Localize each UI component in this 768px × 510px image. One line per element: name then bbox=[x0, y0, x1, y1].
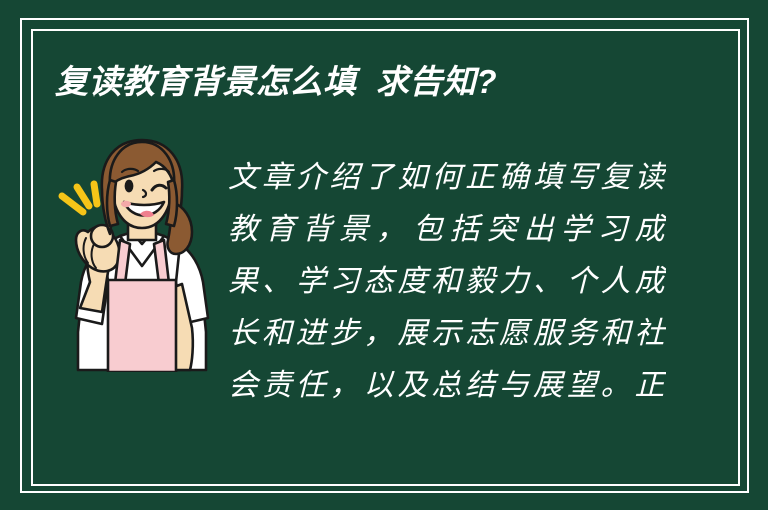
poster-card: 复读教育背景怎么填 求告知? 文章介绍了如何正确填写复读教育背景，包括突出学习成… bbox=[0, 0, 768, 510]
eye-left bbox=[125, 180, 134, 193]
illustration-smiling-woman-ok-gesture bbox=[52, 132, 232, 372]
body-paragraph: 文章介绍了如何正确填写复读教育背景，包括突出学习成果、学习态度和毅力、个人成长和… bbox=[228, 152, 666, 402]
apron-body bbox=[108, 280, 176, 372]
sparkle-icon bbox=[62, 184, 97, 212]
hand-ok-gesture bbox=[76, 225, 120, 271]
page-title: 复读教育背景怎么填 求告知? bbox=[55, 62, 715, 102]
cheek-blush bbox=[121, 201, 131, 207]
